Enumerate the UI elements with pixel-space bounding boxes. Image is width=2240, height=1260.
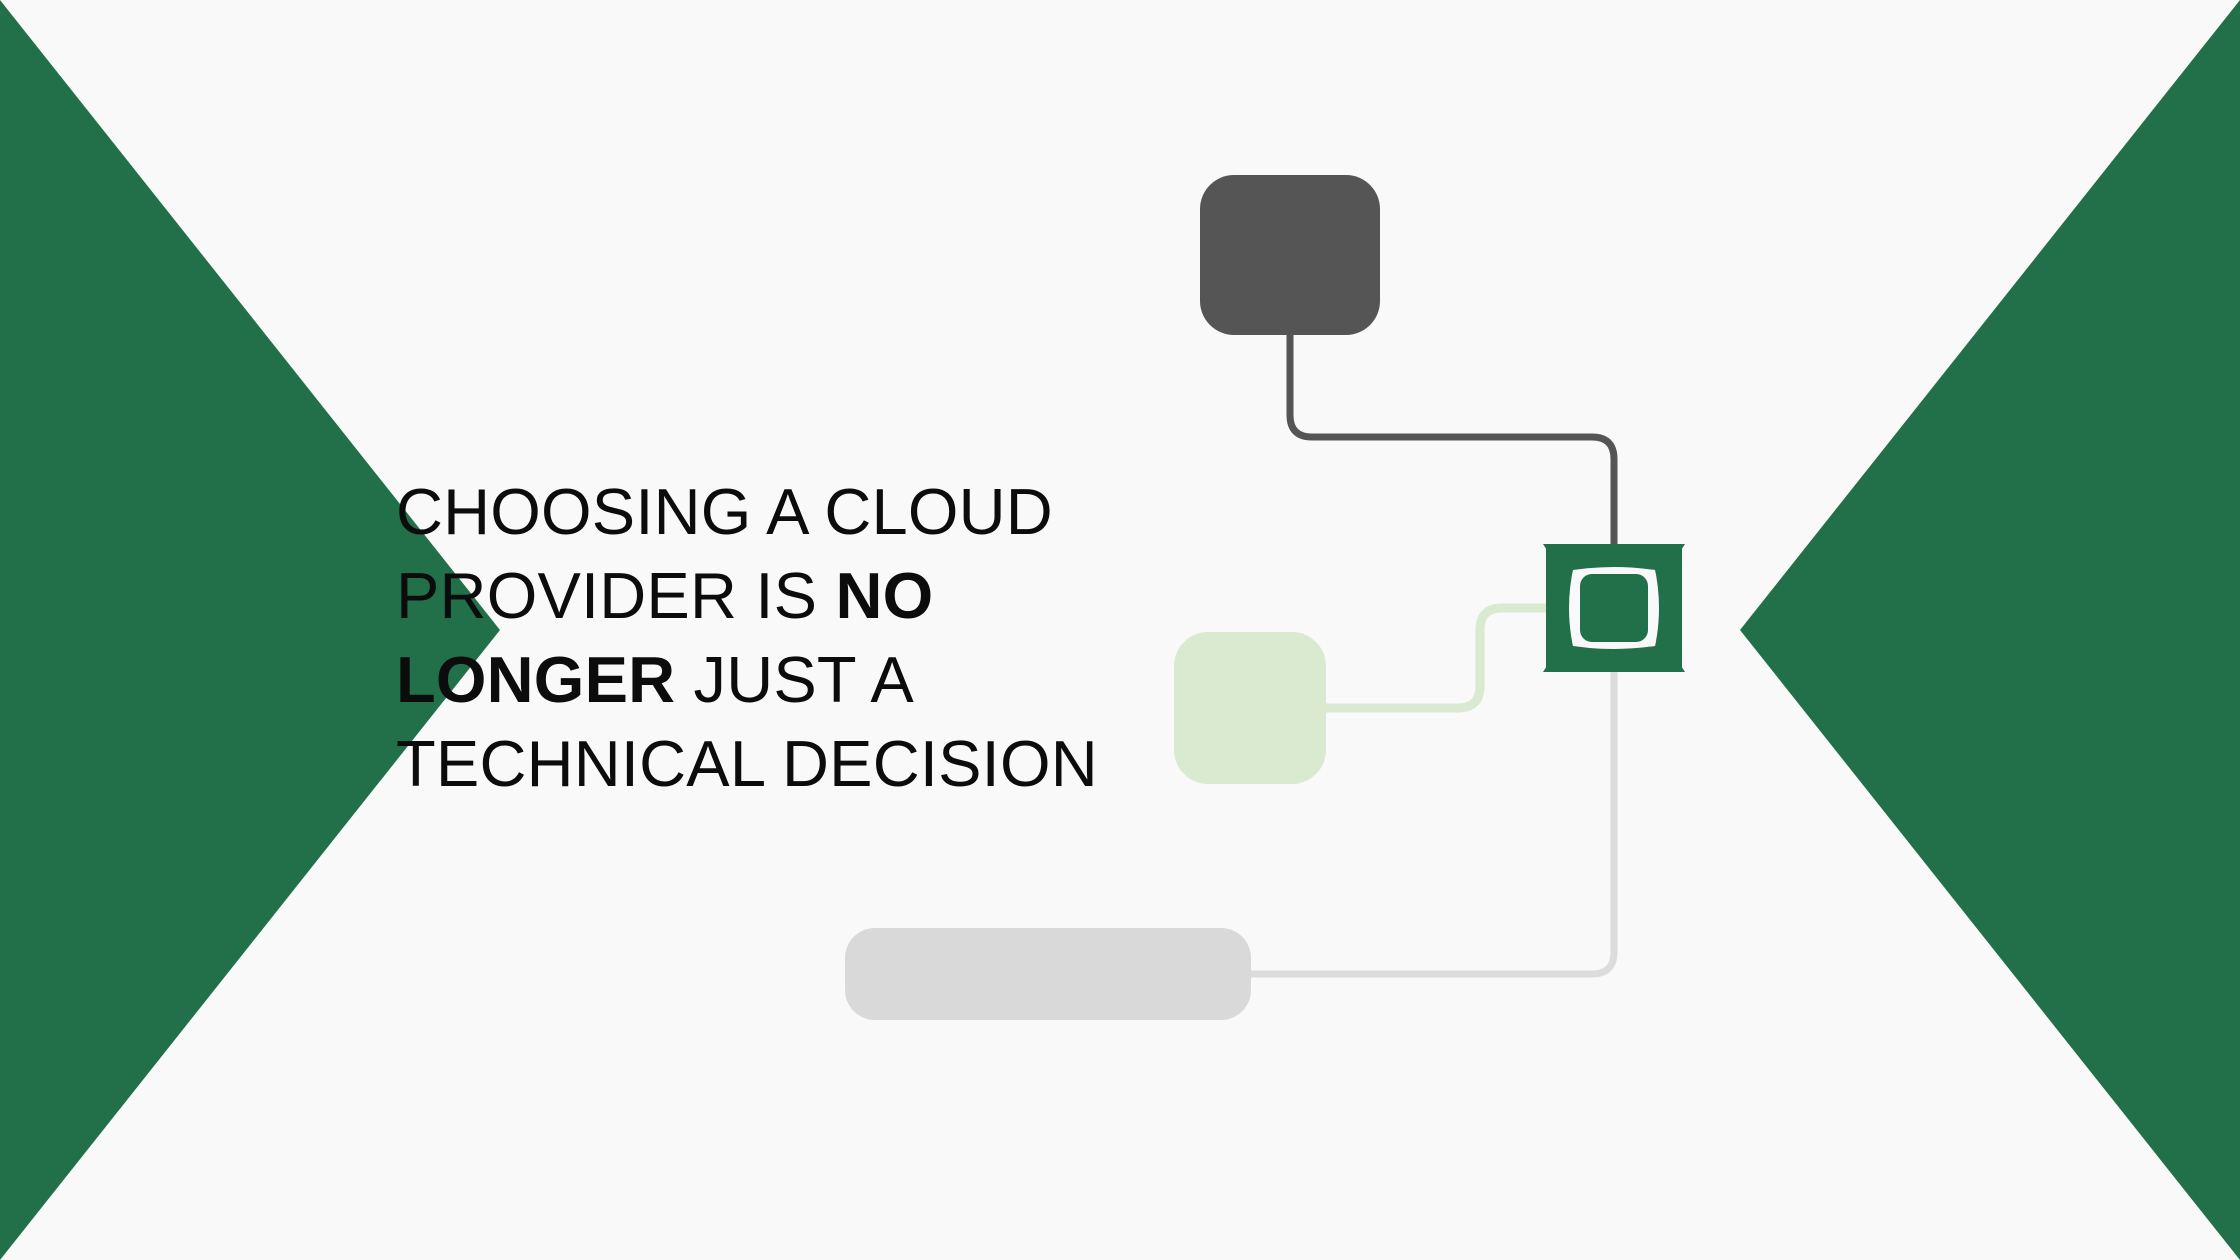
- headline-line-2: PROVIDER IS NO: [396, 554, 1156, 638]
- headline-emphasis-no: NO: [835, 559, 933, 632]
- chip-core-square: [1580, 574, 1648, 642]
- dark-connector-path: [1290, 335, 1614, 545]
- soft-green-rounded-node[interactable]: [1174, 632, 1326, 784]
- headline-line-3-regular: JUST A: [675, 643, 914, 716]
- headline-line-1: CHOOSING A CLOUD: [396, 470, 1156, 554]
- headline-line-1-text: CHOOSING A CLOUD: [396, 475, 1053, 548]
- slide-canvas: CHOOSING A CLOUD PROVIDER IS NO LONGER J…: [0, 0, 2240, 1260]
- chip-processor-icon[interactable]: [1543, 544, 1685, 672]
- dark-rounded-node[interactable]: [1200, 175, 1380, 335]
- headline-line-2-regular: PROVIDER IS: [396, 559, 835, 632]
- headline-line-4-text: TECHNICAL DECISION: [396, 727, 1098, 800]
- page-title: CHOOSING A CLOUD PROVIDER IS NO LONGER J…: [396, 470, 1156, 806]
- headline-emphasis-longer: LONGER: [396, 643, 675, 716]
- headline-line-3: LONGER JUST A: [396, 638, 1156, 722]
- gray-pill-node[interactable]: [845, 928, 1251, 1020]
- chip-left-segment: [1546, 547, 1574, 669]
- headline-line-4: TECHNICAL DECISION: [396, 722, 1156, 806]
- chip-right-segment: [1654, 547, 1682, 669]
- soft-green-connector-path: [1326, 608, 1545, 708]
